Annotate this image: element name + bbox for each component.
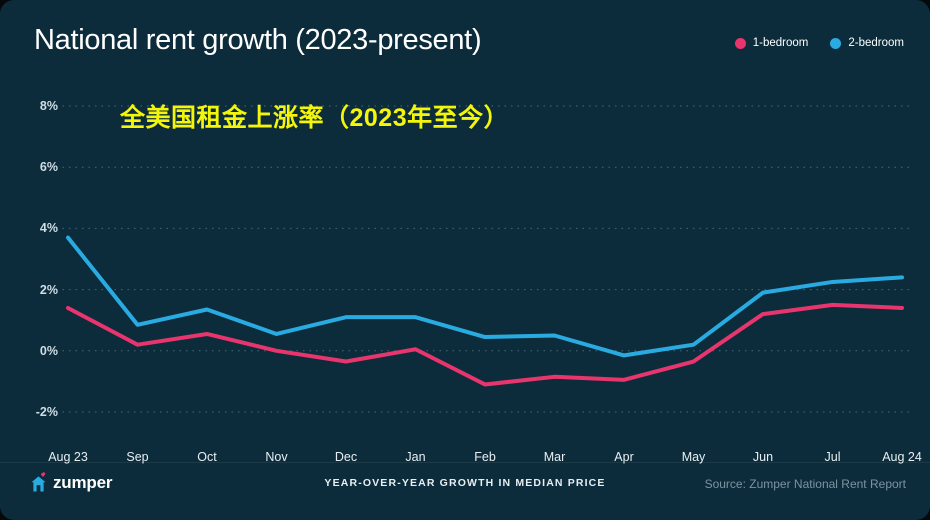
legend-label: 1-bedroom	[753, 37, 809, 49]
page-title: National rent growth (2023-present)	[34, 24, 481, 57]
y-axis-tick: 2%	[14, 283, 58, 297]
chart-legend: 1-bedroom 2-bedroom	[735, 37, 904, 49]
footer-source: Source: Zumper National Rent Report	[705, 477, 906, 491]
legend-dot-icon	[735, 38, 746, 49]
chart-card: National rent growth (2023-present) 1-be…	[0, 0, 930, 520]
series-paths	[68, 238, 902, 385]
legend-item-2-bedroom[interactable]: 2-bedroom	[830, 37, 904, 49]
y-axis-tick: 6%	[14, 160, 58, 174]
legend-dot-icon	[830, 38, 841, 49]
gridlines	[56, 106, 914, 412]
legend-label: 2-bedroom	[848, 37, 904, 49]
series-line-1-bedroom	[68, 305, 902, 385]
y-axis-labels: 8%6%4%2%0%-2%	[14, 78, 58, 450]
y-axis-tick: 8%	[14, 99, 58, 113]
chart-footer: zumper YEAR-OVER-YEAR GROWTH IN MEDIAN P…	[0, 462, 930, 520]
legend-item-1-bedroom[interactable]: 1-bedroom	[735, 37, 809, 49]
y-axis-tick: 4%	[14, 221, 58, 235]
house-heart-icon	[30, 472, 47, 493]
y-axis-tick: 0%	[14, 344, 58, 358]
footer-caption: YEAR-OVER-YEAR GROWTH IN MEDIAN PRICE	[324, 477, 605, 489]
y-axis-tick: -2%	[14, 405, 58, 419]
chart-header: National rent growth (2023-present) 1-be…	[0, 0, 930, 78]
overlay-title: 全美国租金上涨率（2023年至今）	[120, 98, 509, 134]
logo-text: zumper	[53, 473, 112, 493]
zumper-logo[interactable]: zumper	[30, 472, 112, 493]
